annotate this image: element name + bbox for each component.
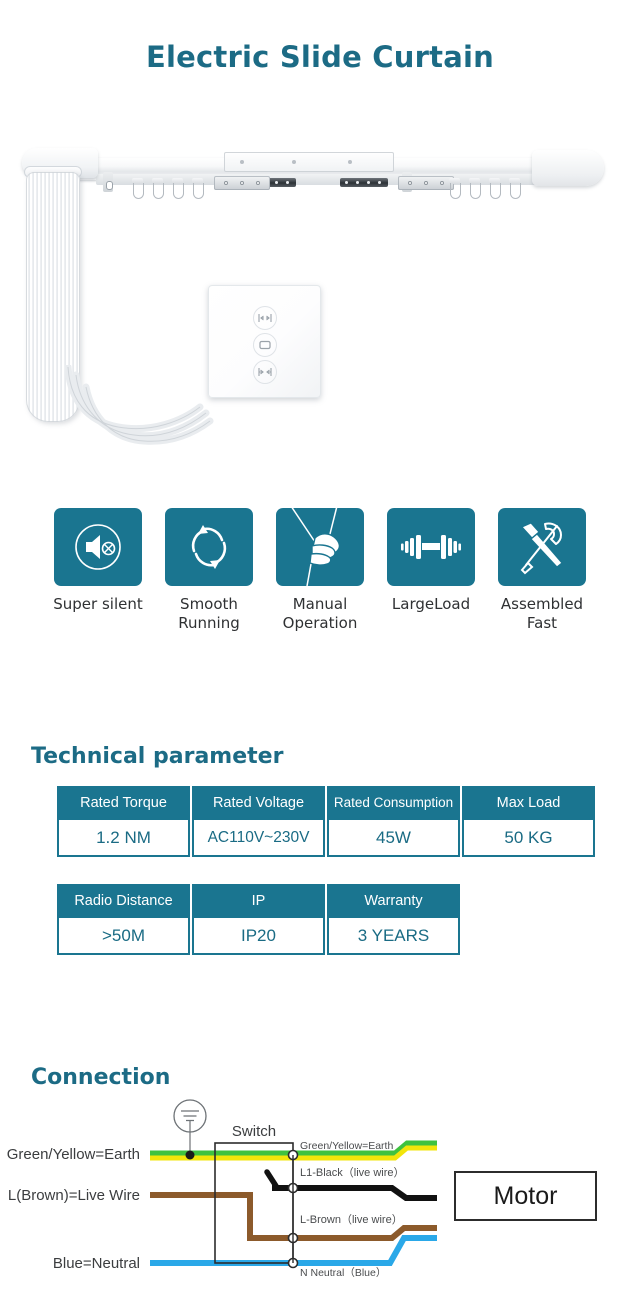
feature-icon-row: Super silent SmoothRunning [0,508,640,633]
curtain-hook [191,178,204,200]
curtain-hook [508,178,521,200]
feature-label: AssembledFast [496,595,588,633]
spec-value: 45W [327,820,460,857]
mount-screw [292,160,296,164]
feature-smooth-running: SmoothRunning [163,508,255,633]
page-title: Electric Slide Curtain [0,40,640,74]
curtain-track-end-cap [532,150,604,186]
track-metal-bar [340,178,388,187]
curtain-track-mount-plate [224,152,394,172]
feature-label: Super silent [52,595,144,614]
left-wire-label-neutral: Blue=Neutral [53,1255,140,1272]
wiring-diagram: Green/Yellow=Earth L(Brown)=Live Wire Bl… [0,1098,640,1278]
feature-label: LargeLoad [385,595,477,614]
spec-header: Max Load [462,786,595,820]
screwdriver-hammer-icon [498,508,586,586]
earth-ground-symbol [174,1100,206,1155]
hand-pull-icon [276,508,364,586]
spec-table-row-1: Rated Torque 1.2 NM Rated Voltage AC110V… [57,786,595,857]
feature-label: ManualOperation [274,595,366,633]
spec-cell-rated-voltage: Rated Voltage AC110V~230V [192,786,325,857]
close-button[interactable] [253,360,277,384]
switch-box [215,1143,293,1263]
spec-header: Rated Torque [57,786,190,820]
spec-header: Rated Consumption [327,786,460,820]
stop-button[interactable] [253,333,277,357]
feature-large-load: LargeLoad [385,508,477,633]
mute-speaker-icon [54,508,142,586]
spec-header: Rated Voltage [192,786,325,820]
right-wire-label-l-brown: L-Brown（live wire） [300,1213,403,1226]
left-wire-label-earth: Green/Yellow=Earth [7,1146,140,1163]
product-detail-page: Electric Slide Curtain [0,0,640,1313]
right-wire-label-earth: Green/Yellow=Earth [300,1140,393,1152]
curtain-hook [171,178,184,200]
spec-cell-warranty: Warranty 3 YEARS [327,884,460,955]
spec-table-row-2: Radio Distance >50M IP IP20 Warranty 3 Y… [57,884,460,955]
right-wire-label-l1-black: L1-Black（live wire） [300,1166,405,1179]
curtain-hook [468,178,481,200]
feature-label: SmoothRunning [163,595,255,633]
spec-value: 50 KG [462,820,595,857]
spec-value: >50M [57,918,190,955]
motor-label: Motor [494,1182,558,1210]
hero-product-image [0,130,640,460]
dumbbell-icon [387,508,475,586]
wall-switch-panel[interactable] [208,285,321,398]
open-button[interactable] [253,306,277,330]
spec-value: IP20 [192,918,325,955]
right-wire-label-n-neutral: N Neutral（Blue） [300,1267,386,1278]
mount-screw [240,160,244,164]
track-bracket [103,172,113,192]
circular-arrows-icon [165,508,253,586]
curtain-hook [151,178,164,200]
power-cable [60,365,220,460]
left-wire-label-live: L(Brown)=Live Wire [8,1187,140,1204]
curtain-hook [448,178,461,200]
spec-cell-rated-consumption: Rated Consumption 45W [327,786,460,857]
switch-caption: Switch [232,1123,276,1140]
connection-heading: Connection [31,1065,170,1090]
spec-value: 1.2 NM [57,820,190,857]
feature-super-silent: Super silent [52,508,144,633]
earth-junction-dot [186,1151,195,1160]
track-carrier [214,176,270,190]
curtain-hook [131,178,144,200]
spec-value: 3 YEARS [327,918,460,955]
spec-value: AC110V~230V [192,820,325,857]
track-carrier [398,176,454,190]
feature-manual-operation: ManualOperation [274,508,366,633]
feature-assembled-fast: AssembledFast [496,508,588,633]
spec-cell-ip: IP IP20 [192,884,325,955]
spec-cell-max-load: Max Load 50 KG [462,786,595,857]
spec-header: IP [192,884,325,918]
mount-screw [348,160,352,164]
spec-header: Radio Distance [57,884,190,918]
spec-cell-rated-torque: Rated Torque 1.2 NM [57,786,190,857]
spec-header: Warranty [327,884,460,918]
technical-parameter-heading: Technical parameter [31,744,283,769]
curtain-hook [488,178,501,200]
spec-cell-radio-distance: Radio Distance >50M [57,884,190,955]
